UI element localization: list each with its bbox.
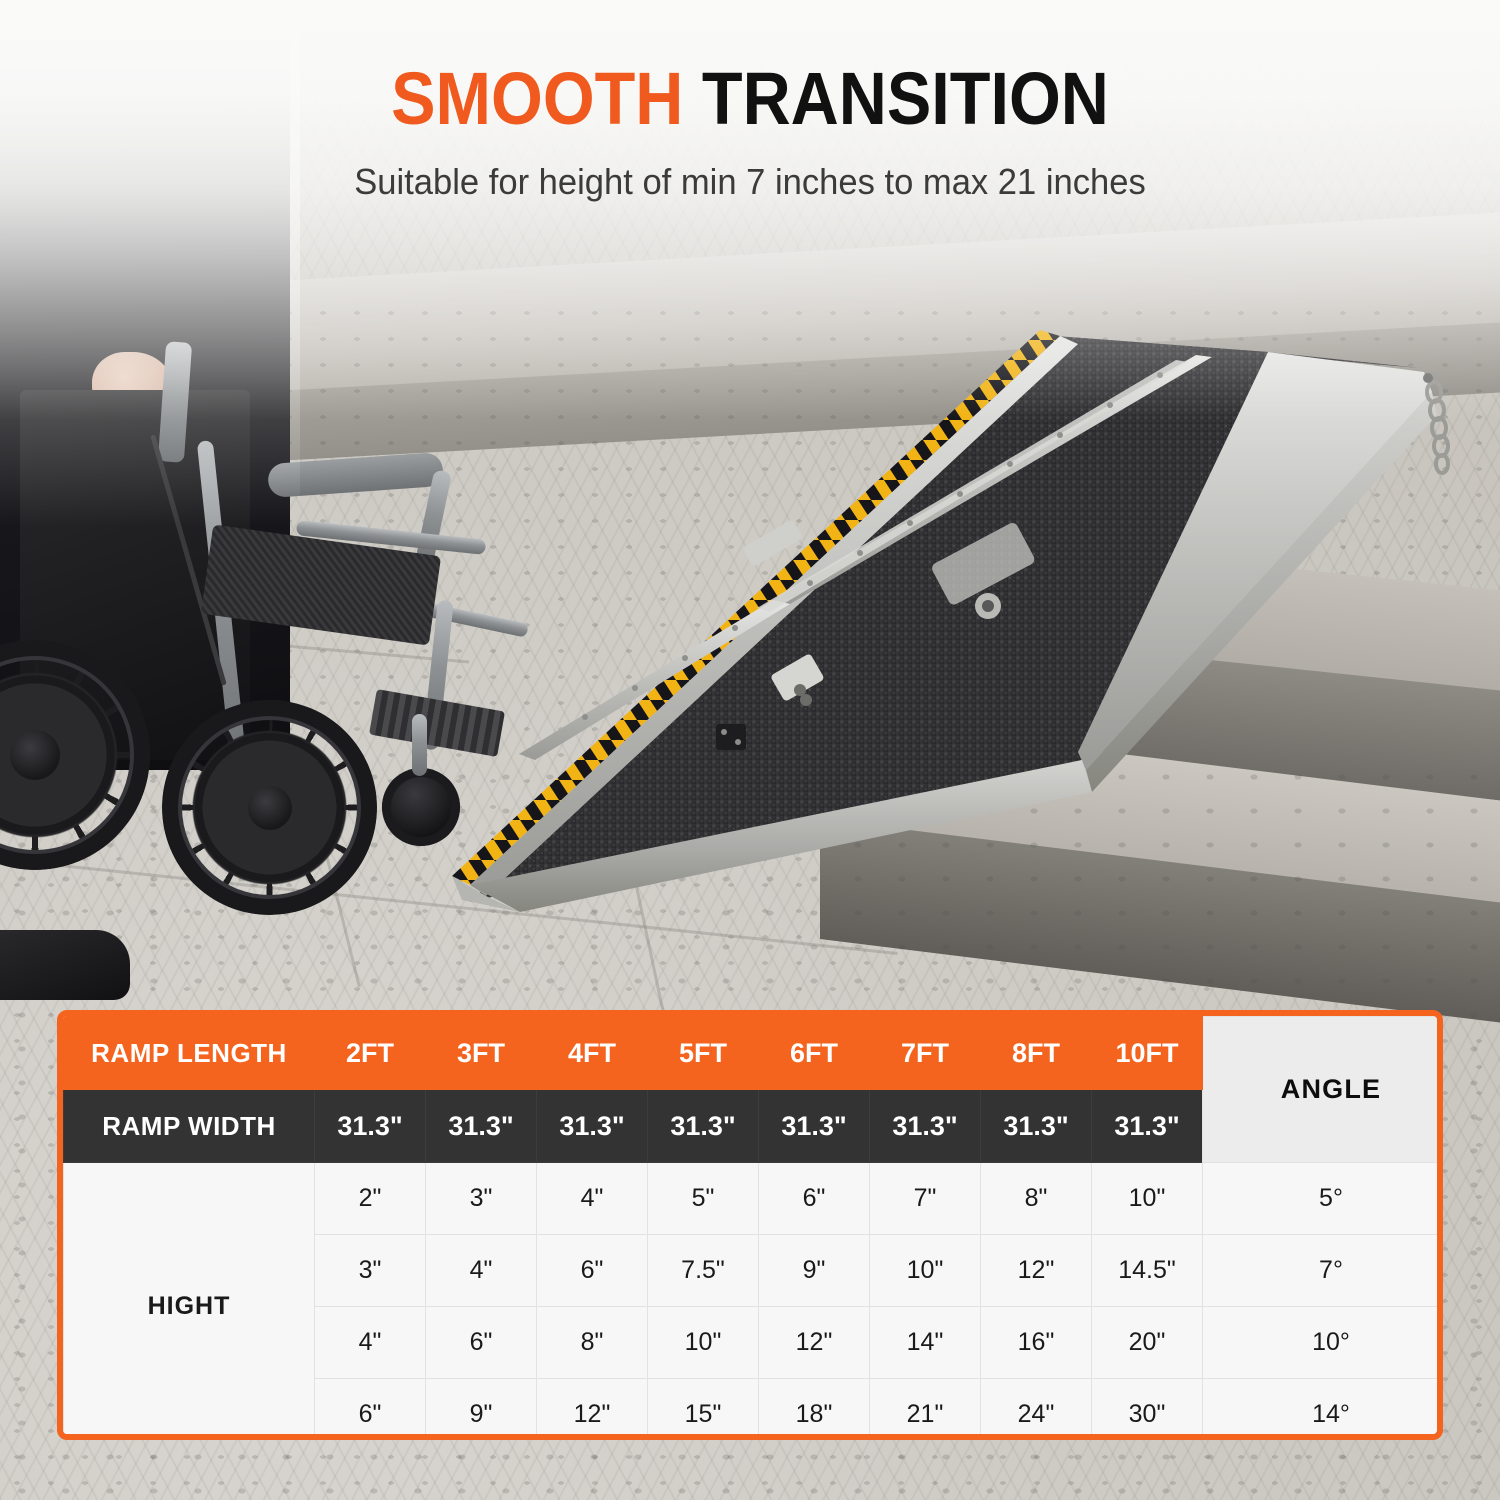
height-cell-1-0: 3" [315, 1235, 426, 1307]
wheel-hub [248, 786, 292, 830]
angle-cell-3: 14° [1203, 1379, 1444, 1441]
table-row-ramp-length: RAMP LENGTH 2FT 3FT 4FT 5FT 6FT 7FT 8FT … [64, 1017, 1444, 1090]
length-cell-2: 4FT [537, 1017, 648, 1090]
width-cell-2: 31.3" [537, 1090, 648, 1163]
height-cell-1-5: 10" [870, 1235, 981, 1307]
page-title: SMOOTH TRANSITION [75, 62, 1425, 136]
caster-fork [412, 714, 427, 776]
ramp-spec-table: RAMP LENGTH 2FT 3FT 4FT 5FT 6FT 7FT 8FT … [63, 1016, 1443, 1440]
wheelchair-armrest-pad [267, 452, 444, 498]
height-cell-0-3: 5" [648, 1163, 759, 1235]
spec-table-frame: RAMP LENGTH 2FT 3FT 4FT 5FT 6FT 7FT 8FT … [57, 1010, 1443, 1440]
length-cell-3: 5FT [648, 1017, 759, 1090]
height-cell-2-6: 16" [981, 1307, 1092, 1379]
height-cell-0-2: 4" [537, 1163, 648, 1235]
height-cell-3-2: 12" [537, 1379, 648, 1441]
person-shoe [0, 930, 130, 1000]
wheel-hub [10, 730, 60, 780]
width-cell-3: 31.3" [648, 1090, 759, 1163]
height-cell-3-3: 15" [648, 1379, 759, 1441]
title-rest: TRANSITION [702, 57, 1109, 140]
height-cell-3-1: 9" [426, 1379, 537, 1441]
height-cell-0-4: 6" [759, 1163, 870, 1235]
length-cell-1: 3FT [426, 1017, 537, 1090]
height-cell-2-7: 20" [1092, 1307, 1203, 1379]
infographic-page: SMOOTH TRANSITION Suitable for height of… [0, 0, 1500, 1500]
height-cell-0-6: 8" [981, 1163, 1092, 1235]
chain-anchor [1423, 373, 1433, 383]
height-cell-3-7: 30" [1092, 1379, 1203, 1441]
height-cell-3-6: 24" [981, 1379, 1092, 1441]
height-cell-2-3: 10" [648, 1307, 759, 1379]
height-cell-2-4: 12" [759, 1307, 870, 1379]
height-cell-2-2: 8" [537, 1307, 648, 1379]
height-cell-0-7: 10" [1092, 1163, 1203, 1235]
angle-cell-2: 10° [1203, 1307, 1444, 1379]
height-cell-3-0: 6" [315, 1379, 426, 1441]
angle-cell-1: 7° [1203, 1235, 1444, 1307]
width-cell-4: 31.3" [759, 1090, 870, 1163]
height-cell-2-1: 6" [426, 1307, 537, 1379]
width-cell-6: 31.3" [981, 1090, 1092, 1163]
height-cell-1-4: 9" [759, 1235, 870, 1307]
height-cell-1-6: 12" [981, 1235, 1092, 1307]
ramp-width-label: RAMP WIDTH [64, 1090, 315, 1163]
height-cell-1-1: 4" [426, 1235, 537, 1307]
angle-column-header: ANGLE [1203, 1017, 1444, 1163]
table-row-height-0: HIGHT 2" 3" 4" 5" 6" 7" 8" 10" 5° [64, 1163, 1444, 1235]
ramp-length-label: RAMP LENGTH [64, 1017, 315, 1090]
height-cell-2-5: 14" [870, 1307, 981, 1379]
title-highlight: SMOOTH [391, 57, 683, 140]
ramp-side-bracket [716, 724, 746, 750]
height-cell-3-5: 21" [870, 1379, 981, 1441]
length-cell-6: 8FT [981, 1017, 1092, 1090]
length-cell-5: 7FT [870, 1017, 981, 1090]
height-cell-0-1: 3" [426, 1163, 537, 1235]
width-cell-0: 31.3" [315, 1090, 426, 1163]
length-cell-4: 6FT [759, 1017, 870, 1090]
width-cell-5: 31.3" [870, 1090, 981, 1163]
height-cell-1-2: 6" [537, 1235, 648, 1307]
height-cell-2-0: 4" [315, 1307, 426, 1379]
length-cell-7: 10FT [1092, 1017, 1203, 1090]
spec-table-body: RAMP LENGTH 2FT 3FT 4FT 5FT 6FT 7FT 8FT … [64, 1017, 1444, 1441]
headline-block: SMOOTH TRANSITION Suitable for height of… [0, 62, 1500, 202]
width-cell-7: 31.3" [1092, 1090, 1203, 1163]
wheelchair-front-caster [382, 768, 460, 846]
width-cell-1: 31.3" [426, 1090, 537, 1163]
height-cell-1-7: 14.5" [1092, 1235, 1203, 1307]
height-cell-3-4: 18" [759, 1379, 870, 1441]
length-cell-0: 2FT [315, 1017, 426, 1090]
height-cell-1-3: 7.5" [648, 1235, 759, 1307]
height-cell-0-5: 7" [870, 1163, 981, 1235]
hight-row-label: HIGHT [64, 1163, 315, 1441]
height-cell-0-0: 2" [315, 1163, 426, 1235]
angle-cell-0: 5° [1203, 1163, 1444, 1235]
page-subtitle: Suitable for height of min 7 inches to m… [30, 162, 1470, 202]
